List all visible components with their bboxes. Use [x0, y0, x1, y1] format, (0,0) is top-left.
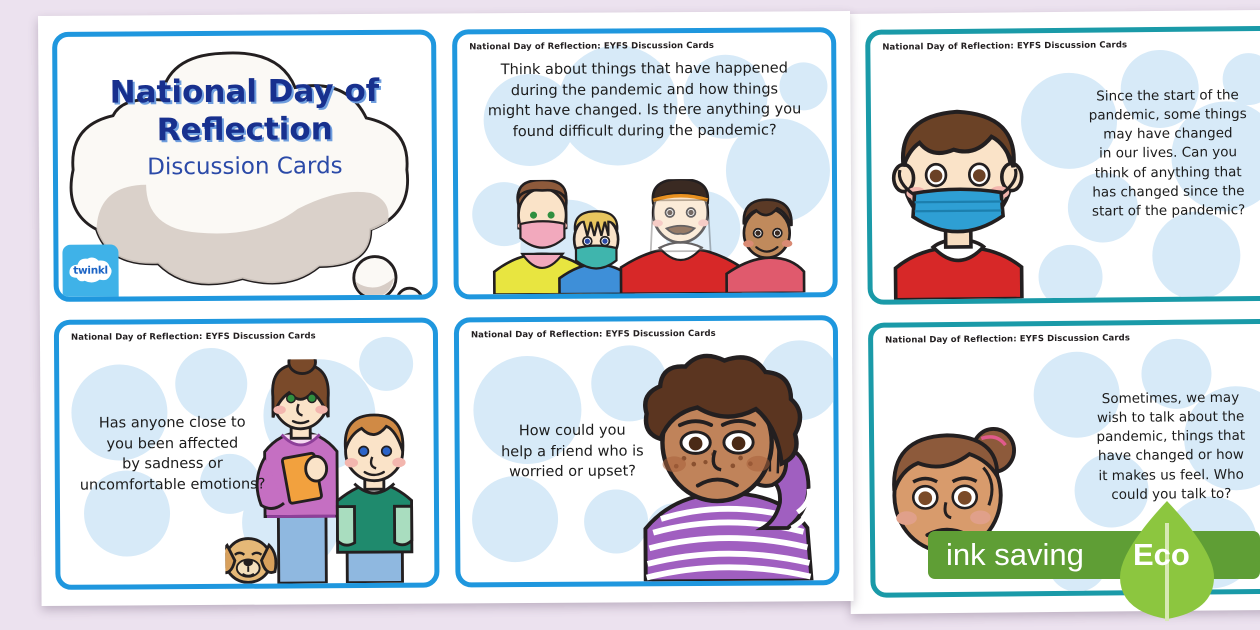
- title-card[interactable]: National Day of Reflection Discussion Ca…: [52, 30, 438, 302]
- page-subtitle: Discussion Cards: [58, 152, 432, 180]
- card-header-label: National Day of Reflection: EYFS Discuss…: [59, 323, 433, 343]
- discussion-card-since-the-start[interactable]: National Day of Reflection: EYFS Discuss…: [865, 26, 1260, 305]
- discussion-card-how-could-you-help[interactable]: National Day of Reflection: EYFS Discuss…: [454, 315, 840, 587]
- card-question-text: How could you help a friend who is worri…: [467, 420, 677, 483]
- twinkl-logo[interactable]: twinkl: [62, 245, 118, 297]
- card-question-text: Since the start of the pandemic, some th…: [1048, 86, 1260, 222]
- card-question-text: Think about things that have happened du…: [471, 58, 817, 142]
- card-question-text: Has anyone close to you been affected by…: [67, 412, 277, 496]
- ink-saving-label: ink saving: [946, 531, 1084, 579]
- discussion-card-think-about-things[interactable]: National Day of Reflection: EYFS Discuss…: [452, 27, 838, 299]
- card-question-text: Sometimes, we may wish to talk about the…: [1051, 388, 1260, 505]
- ink-saving-eco-badge: ink saving Eco: [928, 531, 1260, 579]
- card-header-label: National Day of Reflection: EYFS Discuss…: [870, 31, 1260, 53]
- card-header-label: National Day of Reflection: EYFS Discuss…: [459, 320, 833, 340]
- page-title: National Day of Reflection: [57, 73, 431, 151]
- eco-label: Eco: [1133, 531, 1190, 579]
- card-header-label: National Day of Reflection: EYFS Discuss…: [873, 324, 1260, 346]
- twinkl-wordmark: twinkl: [66, 256, 114, 286]
- document-page-front[interactable]: National Day of Reflection Discussion Ca…: [38, 11, 854, 606]
- family-group-with-masks-illustration: [473, 178, 818, 294]
- discussion-card-has-anyone-close[interactable]: National Day of Reflection: EYFS Discuss…: [54, 318, 440, 590]
- card-header-label: National Day of Reflection: EYFS Discuss…: [457, 32, 831, 52]
